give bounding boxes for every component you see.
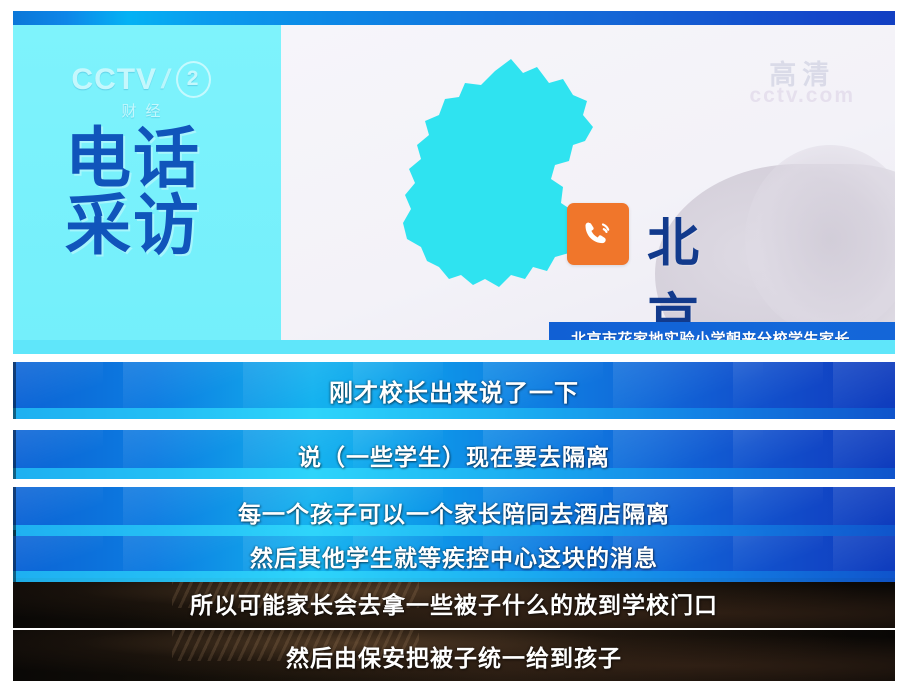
broadcast-screenshot: CCTV / 2 财经 电话 采访 高清 cctv.com [0,0,908,681]
subtitle-band: 每一个孩子可以一个家长陪同去酒店隔离 [13,487,895,536]
header-gradient-strip [13,11,895,25]
phone-call-icon [567,203,629,265]
program-title-panel: CCTV / 2 财经 电话 采访 [13,25,281,354]
cctv-wordmark: CCTV [71,63,157,97]
subtitle-text: 然后其他学生就等疾控中心这块的消息 [250,539,658,573]
subtitle-text: 每一个孩子可以一个家长陪同去酒店隔离 [238,495,670,529]
band-left-edge [13,487,16,536]
subtitle-text: 刚才校长出来说了一下 [329,373,579,408]
channel-number: 2 [176,61,211,98]
band-left-edge [13,430,16,479]
beijing-map-svg [377,53,687,328]
subtitle-text: 说（一些学生）现在要去隔离 [298,438,610,472]
subtitle-text: 所以可能家长会去拿一些被子什么的放到学校门口 [190,586,718,620]
band-underglow-strip [13,408,895,419]
program-title: 电话 采访 [65,125,273,260]
subtitle-band: 然后由保安把被子统一给到孩子 [13,630,895,681]
map-panel: 高清 cctv.com 北京 北京市花家地实验小学朝来分校学生家长 [281,25,895,354]
phone-handset-glyph [578,214,618,254]
subtitle-text: 然后由保安把被子统一给到孩子 [286,639,622,673]
band-left-edge [13,530,16,582]
frame-bottom-accent [13,340,895,354]
channel-watermark: 高清 cctv.com [750,53,856,108]
program-title-line2: 采访 [65,192,273,259]
beijing-map-graphic: 北京 [377,53,687,328]
subtitle-band: 然后其他学生就等疾控中心这块的消息 [13,530,895,582]
watermark-site-label: cctv.com [750,84,856,108]
subtitle-band: 刚才校长出来说了一下 [13,362,895,419]
program-title-line1: 电话 [65,125,273,192]
watermark-hd-label: 高清 [750,53,856,92]
channel-subname: 财经 [61,100,221,121]
subtitle-band: 说（一些学生）现在要去隔离 [13,430,895,479]
broadcast-main-frame: CCTV / 2 财经 电话 采访 高清 cctv.com [13,11,895,354]
subtitle-band: 所以可能家长会去拿一些被子什么的放到学校门口 [13,578,895,628]
cctv-channel-logo: CCTV / 2 财经 [61,61,221,125]
band-left-edge [13,362,16,419]
beijing-map-shape [403,59,593,287]
logo-slash-icon: / [159,64,174,95]
